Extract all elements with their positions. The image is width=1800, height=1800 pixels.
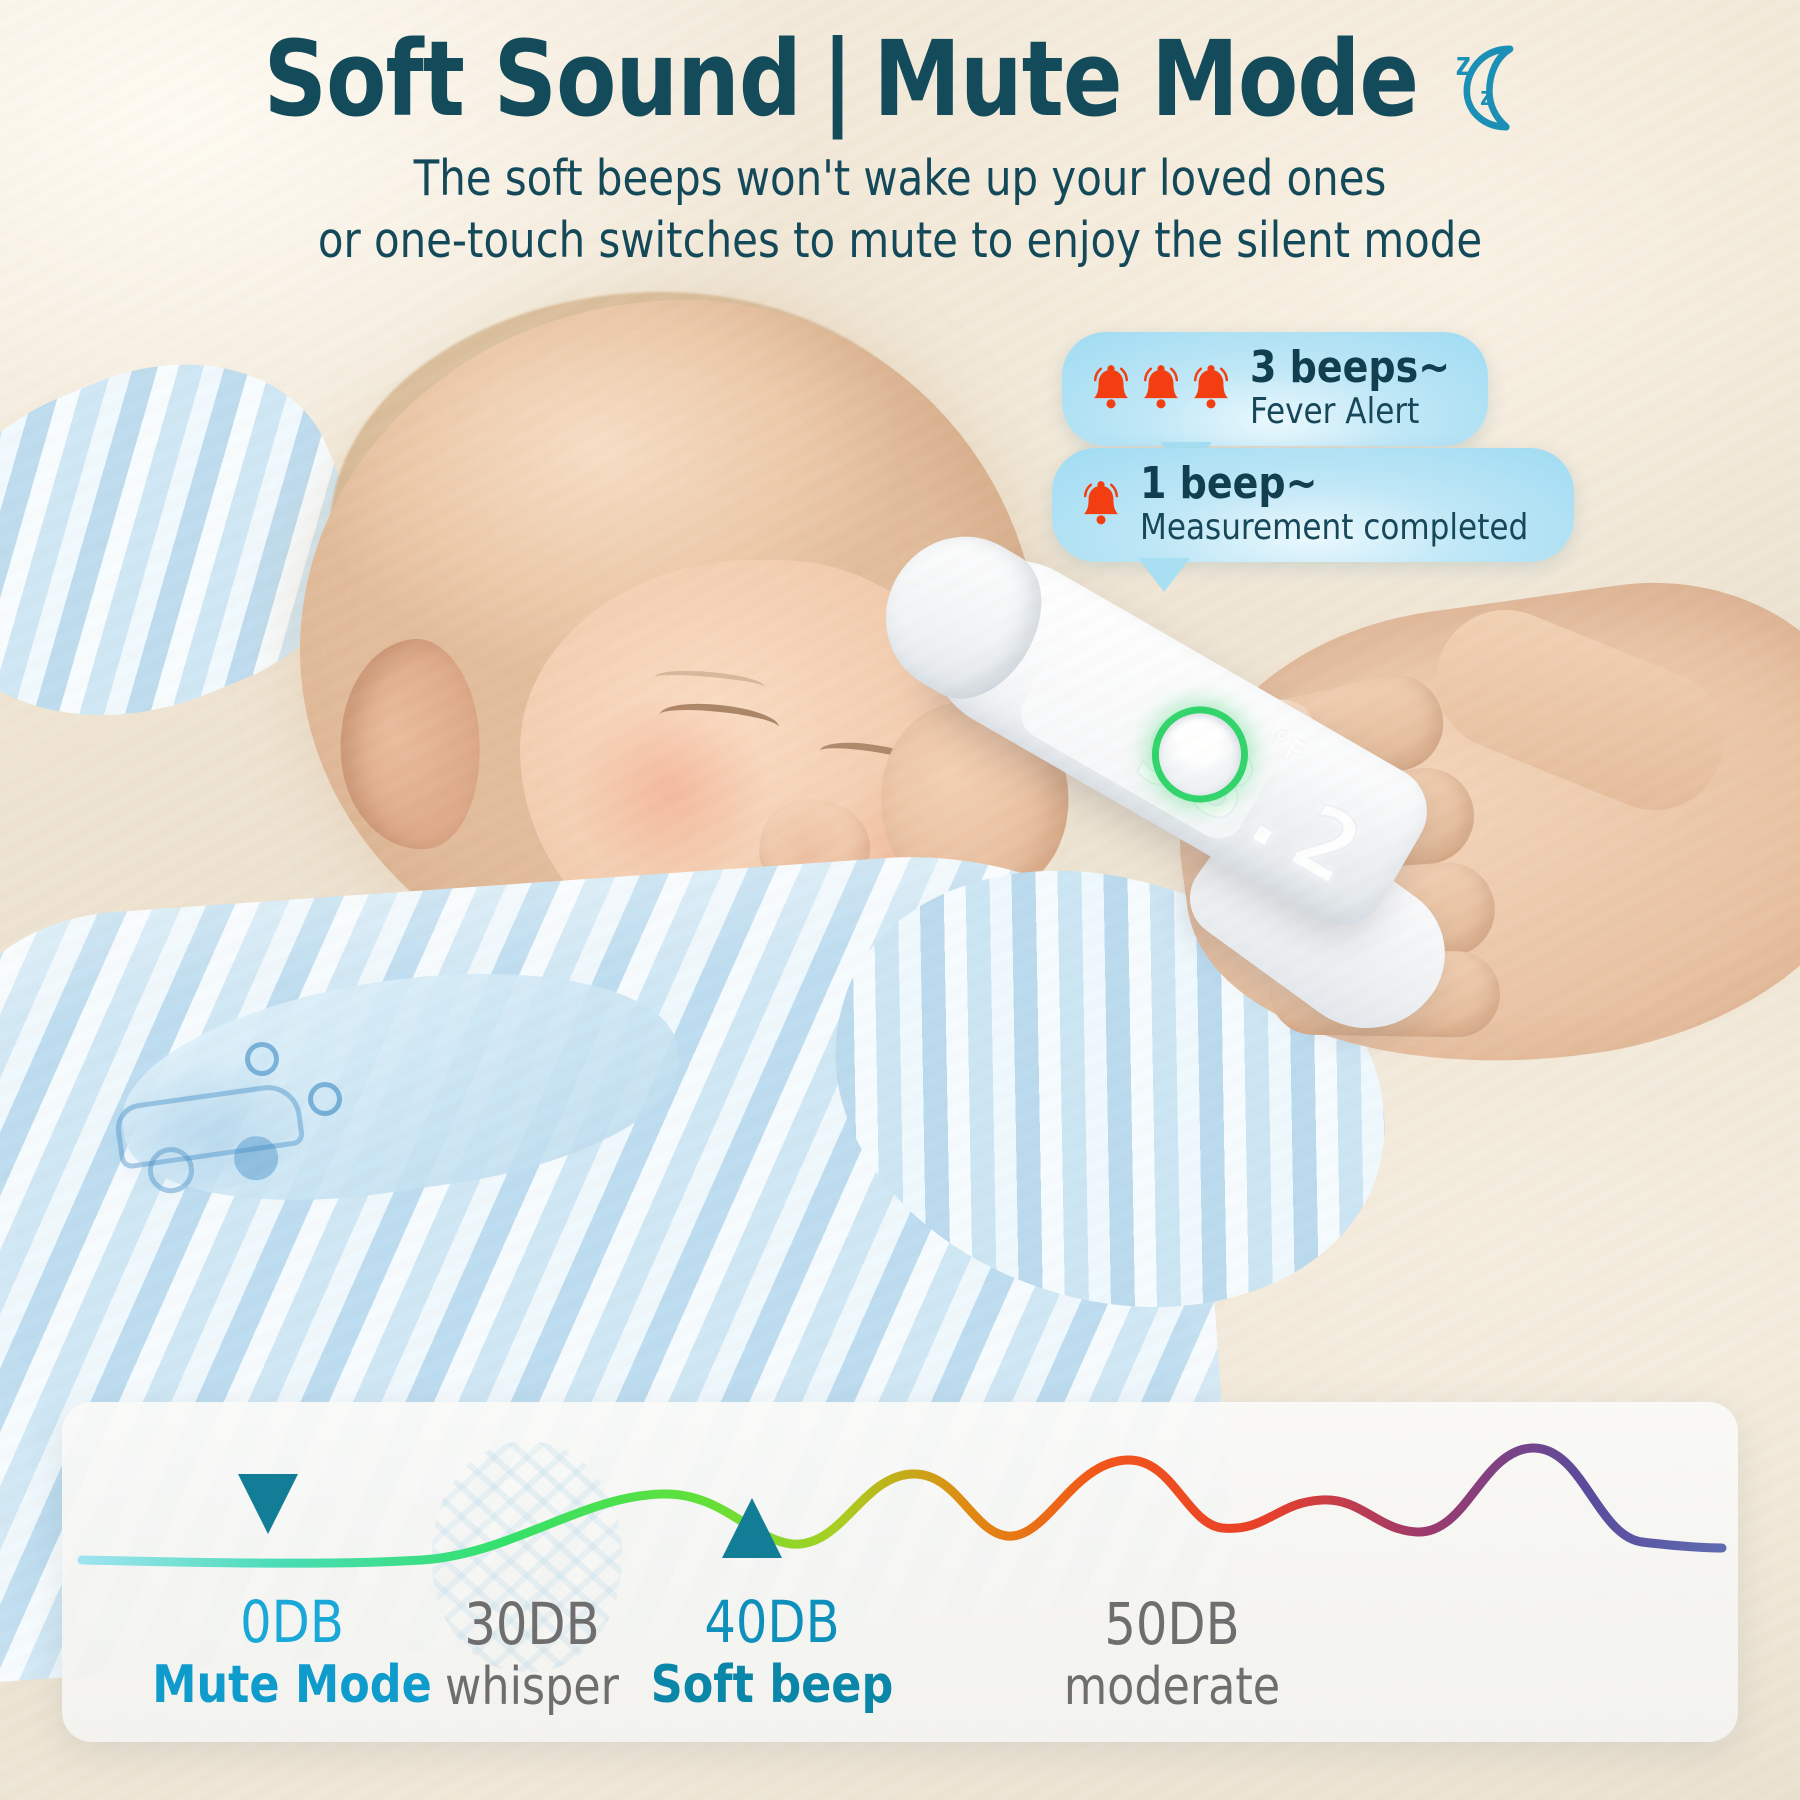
adult-hand	[1151, 554, 1800, 1107]
adult-finger	[1242, 859, 1498, 970]
page-title: Soft Sound | Mute Mode z z	[264, 26, 1537, 132]
db-name: moderate	[1030, 1659, 1315, 1716]
baby-eyebrow	[655, 667, 765, 687]
callout-sub-text: Fever Alert	[1250, 394, 1450, 430]
callout-text: 1 beep~ Measurement completed	[1140, 462, 1544, 546]
db-level-40: 40DB Soft beep	[602, 1592, 942, 1714]
callout-measurement-complete: 1 beep~ Measurement completed	[1052, 448, 1574, 562]
baby-pajama-sleeve-left	[0, 311, 396, 778]
adult-finger	[1219, 761, 1481, 895]
pajama-car-print	[92, 1046, 318, 1204]
baby-face-highlight	[520, 560, 990, 980]
db-level-50: 50DB moderate	[1022, 1594, 1322, 1716]
bubble-tail	[1138, 558, 1190, 592]
title-divider: |	[821, 26, 852, 132]
callout-fever-alert: 3 beeps~ Fever Alert	[1062, 332, 1488, 446]
decibel-scale-panel: 0DB Mute Mode 30DB whisper 40DB Soft bee…	[62, 1402, 1738, 1742]
display-temperature-value: 98.2	[1117, 693, 1381, 909]
svg-text:z: z	[1480, 82, 1492, 111]
title-part-1: Soft Sound	[264, 26, 801, 132]
thermometer-probe	[857, 509, 1066, 721]
marker-40db	[722, 1498, 782, 1558]
title-part-2: Mute Mode	[873, 26, 1418, 132]
bell-group	[1088, 362, 1234, 414]
scan-button[interactable]	[1144, 698, 1256, 810]
adult-thumb	[1415, 589, 1746, 831]
thermometer-handle	[1174, 786, 1473, 1060]
callout-main-text: 1 beep~	[1140, 462, 1528, 506]
alarm-bell-icon	[1188, 362, 1234, 414]
marker-0db	[238, 1474, 298, 1534]
db-value: 50DB	[1030, 1594, 1315, 1655]
baby-head	[300, 300, 1040, 1000]
db-value: 40DB	[611, 1592, 934, 1653]
adult-finger	[1269, 948, 1500, 1038]
alarm-bell-icon	[1138, 362, 1184, 414]
sleeping-moon-zzz-icon: z z	[1439, 31, 1537, 135]
display-unit-label: °F	[1262, 723, 1311, 771]
header-block: Soft Sound | Mute Mode z z The soft beep…	[0, 26, 1800, 272]
baby-hair	[330, 292, 970, 622]
adult-finger	[1207, 665, 1453, 810]
callout-text: 3 beeps~ Fever Alert	[1250, 346, 1458, 430]
adult-fingernail	[1234, 692, 1320, 768]
forehead-mode-icon: ☉	[1130, 731, 1159, 765]
baby-nose	[753, 791, 878, 905]
baby-chin	[700, 960, 960, 1090]
subtitle-line-1: The soft beeps won't wake up your loved …	[45, 148, 1755, 210]
svg-text:z: z	[1456, 44, 1471, 82]
subtitle-line-2: or one-touch switches to mute to enjoy t…	[45, 210, 1755, 272]
bell-group	[1078, 478, 1124, 530]
baby-pajama-collar	[108, 942, 692, 1228]
alarm-bell-icon	[1088, 362, 1134, 414]
baby-eye-left-closed	[659, 699, 780, 727]
callout-sub-text: Measurement completed	[1140, 510, 1528, 546]
alarm-bell-icon	[1078, 478, 1124, 530]
thermometer-device: °F ☉ 98.2	[750, 530, 1470, 1217]
db-name: Soft beep	[611, 1657, 934, 1714]
thermometer-display: °F ☉ 98.2	[1011, 602, 1298, 848]
baby-ear	[329, 633, 490, 856]
pajama-snap-button	[245, 1042, 279, 1076]
baby-cheek-left	[560, 700, 780, 880]
baby-hand	[854, 676, 1097, 925]
baby-eye-right-closed	[820, 736, 931, 768]
callout-main-text: 3 beeps~	[1250, 346, 1450, 390]
baby-pajama-sleeve-right	[788, 818, 1433, 1361]
pajama-snap-button	[308, 1082, 342, 1116]
sound-waveform	[62, 1432, 1738, 1592]
page-subtitle: The soft beeps won't wake up your loved …	[45, 148, 1755, 271]
baby-cheek-right	[830, 760, 1030, 930]
baby-mouth	[757, 918, 883, 984]
